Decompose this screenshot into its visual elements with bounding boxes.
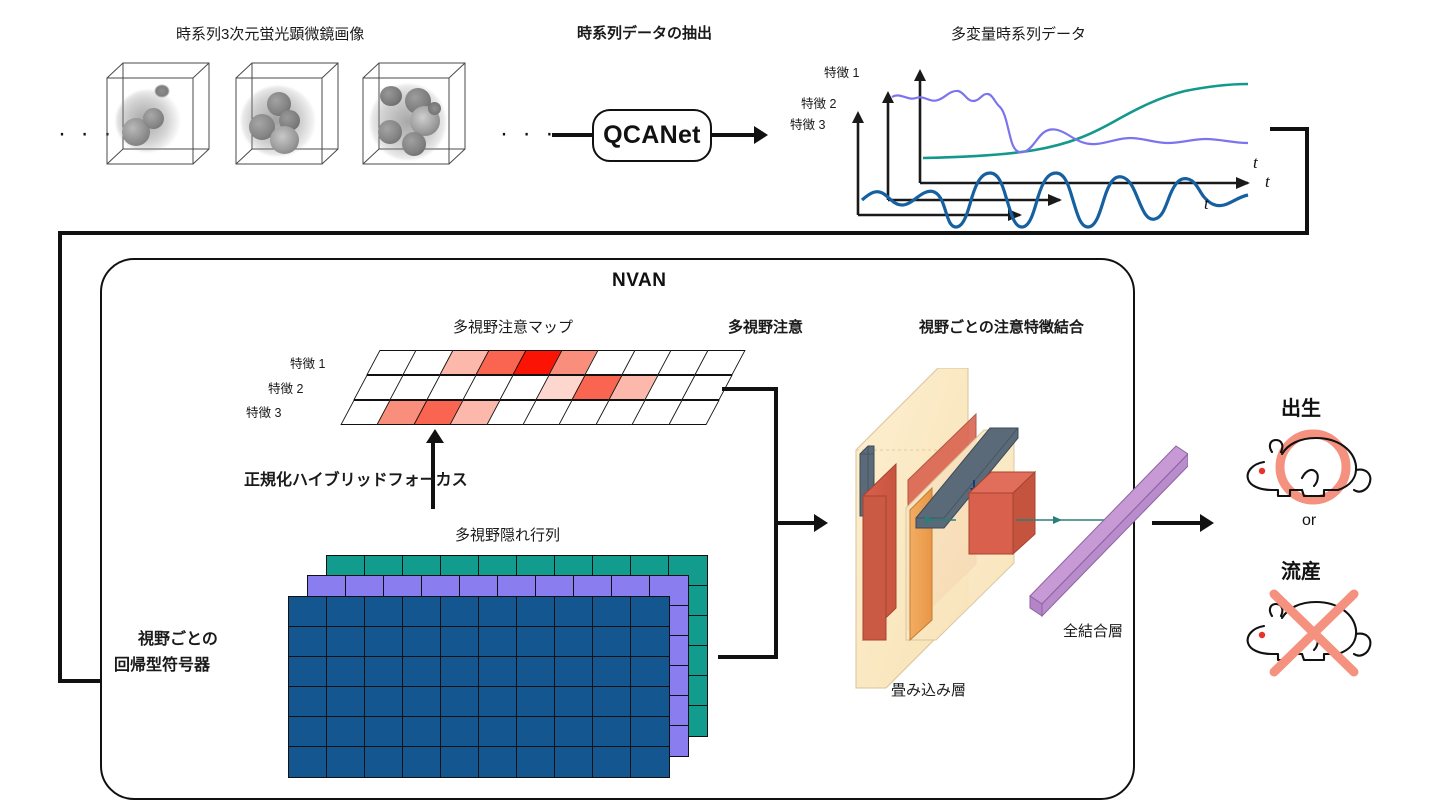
- conv-output-cube: [969, 472, 1035, 554]
- hidden-matrix-cell: [364, 746, 403, 777]
- feedback-line-top: [1270, 127, 1309, 131]
- arrow-to-results: [1152, 521, 1202, 525]
- microscopy-cube-1: [106, 62, 210, 166]
- hidden-matrix-cell: [440, 686, 479, 717]
- hidden-matrix-cell: [440, 746, 479, 777]
- hidden-matrix-cell: [592, 596, 631, 627]
- cell-blob-group-1: [110, 80, 192, 162]
- hidden-matrix-cell: [516, 746, 555, 777]
- feedback-line-right: [1305, 127, 1309, 235]
- time-axis-label-1: t: [1253, 153, 1258, 173]
- hidden-matrix-cell: [288, 746, 327, 777]
- hidden-matrix-cell: [554, 656, 593, 687]
- hidden-matrix-cell: [554, 626, 593, 657]
- ellipsis-right: · · ·: [500, 120, 557, 148]
- nvan-title: NVAN: [612, 270, 666, 292]
- arrow-to-results-head: [1200, 514, 1214, 532]
- hidden-matrix-cell: [630, 596, 669, 627]
- hidden-matrix-cell: [326, 656, 365, 687]
- arrow-from-qcanet: [710, 133, 756, 137]
- hidden-matrix-layer-front: [289, 597, 669, 777]
- attn-to-cnn-line: [774, 521, 816, 525]
- cell-blob-group-3: [366, 80, 448, 162]
- attn-bracket-bottom: [718, 655, 776, 659]
- hidden-matrix-cell: [592, 746, 631, 777]
- focus-label: 正規化ハイブリッドフォーカス: [244, 466, 468, 490]
- hidden-matrix-cell: [554, 716, 593, 747]
- hidden-matrix-cell: [288, 626, 327, 657]
- time-axis-label-3: t: [1204, 194, 1209, 214]
- birth-mouse-eye: [1259, 468, 1265, 474]
- miscarriage-mouse-eye: [1259, 632, 1265, 638]
- hidden-matrix-cell: [402, 626, 441, 657]
- feature-axis-label-3: 特徴 3: [790, 114, 825, 133]
- hidden-matrix-cell: [288, 656, 327, 687]
- hidden-matrix-cell: [554, 746, 593, 777]
- hidden-matrix-cell: [592, 716, 631, 747]
- hidden-matrix-cell: [478, 656, 517, 687]
- hidden-matrix-cell: [630, 746, 669, 777]
- attn-row-label-2: 特徴 2: [268, 378, 303, 397]
- mouse-birth: [1238, 424, 1398, 514]
- conv-label: 畳み込み層: [891, 679, 966, 700]
- hidden-matrix-cell: [402, 596, 441, 627]
- qcanet-label: QCANet: [603, 121, 701, 150]
- hidden-matrix-cell: [554, 686, 593, 717]
- hidden-matrix-cell: [516, 686, 555, 717]
- miscarriage-label: 流産: [1281, 555, 1321, 584]
- timeseries-title: 多変量時系列データ: [951, 23, 1086, 44]
- encoder-label-line1: 視野ごとの: [138, 625, 218, 649]
- concat-title: 視野ごとの注意特徴結合: [919, 316, 1084, 337]
- birth-label: 出生: [1281, 392, 1321, 421]
- hidden-matrix-cell: [326, 746, 365, 777]
- arrow-from-qcanet-head: [754, 126, 768, 144]
- microscopy-cube-3: [362, 62, 466, 166]
- cell-blob-group-2: [239, 80, 321, 162]
- hidden-matrix-cell: [516, 716, 555, 747]
- hidden-matrix-cell: [364, 596, 403, 627]
- hidden-matrix-cell: [478, 596, 517, 627]
- mouse-miscarriage: [1238, 588, 1398, 678]
- cnn-block: [838, 368, 1188, 708]
- hidden-matrix-cell: [288, 716, 327, 747]
- hidden-matrix-cell: [630, 716, 669, 747]
- hidden-matrix-cell: [288, 596, 327, 627]
- hidden-matrix-cell: [364, 656, 403, 687]
- attention-row-3: [340, 400, 717, 425]
- qcanet-box[interactable]: QCANet: [592, 109, 712, 162]
- hidden-matrix-cell: [478, 686, 517, 717]
- hidden-matrix-cell: [630, 626, 669, 657]
- hidden-matrix-cell: [326, 716, 365, 747]
- hidden-matrix-cell: [440, 626, 479, 657]
- series-line-feature2: [892, 91, 1248, 152]
- hidden-matrix-cell: [402, 716, 441, 747]
- attn-to-cnn-head: [814, 514, 828, 532]
- or-label: or: [1302, 512, 1316, 530]
- hidden-matrix-label: 多視野隠れ行列: [455, 524, 560, 545]
- extraction-title: 時系列データの抽出: [577, 22, 712, 43]
- attn-row-label-1: 特徴 1: [290, 353, 325, 372]
- hidden-matrix-cell: [364, 716, 403, 747]
- hidden-matrix-cell: [478, 746, 517, 777]
- hidden-matrix-cell: [326, 596, 365, 627]
- hidden-matrix-cell: [440, 596, 479, 627]
- hidden-matrix-cell: [364, 686, 403, 717]
- hidden-matrix-cell: [364, 626, 403, 657]
- microscopy-cube-2: [235, 62, 339, 166]
- fc-rod: [1030, 446, 1188, 616]
- focus-arrow-head: [426, 429, 444, 443]
- fc-label: 全結合層: [1063, 620, 1123, 641]
- attention-row-2: [353, 375, 730, 400]
- hidden-matrix-cell: [326, 686, 365, 717]
- timeseries-chart: [830, 55, 1300, 230]
- hidden-matrix-cell: [516, 626, 555, 657]
- arrow-to-qcanet: [552, 133, 594, 137]
- hidden-matrix-cell: [630, 686, 669, 717]
- feedback-line-left: [58, 231, 62, 683]
- series-line-feature1: [923, 84, 1248, 158]
- hidden-matrix-cell: [554, 596, 593, 627]
- hidden-matrix-cell: [516, 596, 555, 627]
- hidden-matrix-cell: [440, 716, 479, 747]
- encoder-label-line2: 回帰型符号器: [114, 651, 210, 675]
- hidden-matrix-cell: [288, 686, 327, 717]
- hidden-matrix-cell: [478, 716, 517, 747]
- attention-title: 多視野注意: [728, 316, 803, 337]
- hidden-matrix-cell: [592, 656, 631, 687]
- hidden-matrix-cell: [326, 626, 365, 657]
- microscopy-title: 時系列3次元蛍光顕微鏡画像: [176, 23, 364, 44]
- attn-bracket-top: [722, 387, 778, 391]
- hidden-matrix-cell: [402, 746, 441, 777]
- attention-map-title: 多視野注意マップ: [453, 316, 573, 337]
- hidden-matrix-cell: [440, 656, 479, 687]
- attention-row-1: [366, 350, 743, 375]
- feedback-line-bottom: [58, 231, 1309, 235]
- hidden-matrix-cell: [592, 626, 631, 657]
- hidden-matrix-cell: [402, 686, 441, 717]
- time-axis-label-2: t: [1265, 172, 1270, 192]
- attn-row-label-3: 特徴 3: [246, 402, 281, 421]
- hidden-matrix-cell: [592, 686, 631, 717]
- hidden-matrix-cell: [478, 626, 517, 657]
- hidden-matrix-cell: [516, 656, 555, 687]
- hidden-matrix-cell: [402, 656, 441, 687]
- hidden-matrix-cell: [630, 656, 669, 687]
